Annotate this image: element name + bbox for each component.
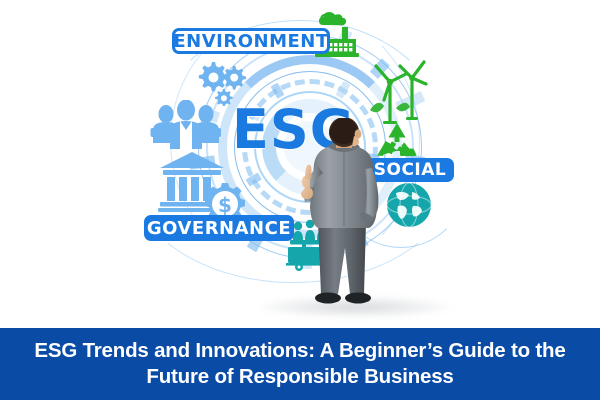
wind-turbine-icon: [366, 48, 428, 124]
gears-icon: [196, 58, 248, 106]
caption-text: ESG Trends and Innovations: A Beginner’s…: [20, 338, 580, 390]
businessman-figure: [288, 118, 400, 318]
co2-cloud-label: CO₂: [320, 12, 342, 25]
caption-banner: ESG Trends and Innovations: A Beginner’s…: [0, 328, 600, 400]
screenshot-root: ESG: [0, 0, 600, 400]
esg-illustration: ESG: [0, 0, 600, 328]
people-group-icon: [150, 100, 222, 150]
label-governance: GOVERNANCE: [144, 215, 294, 241]
label-environment: ENVIRONMENT: [172, 28, 330, 54]
svg-text:$: $: [218, 193, 232, 217]
